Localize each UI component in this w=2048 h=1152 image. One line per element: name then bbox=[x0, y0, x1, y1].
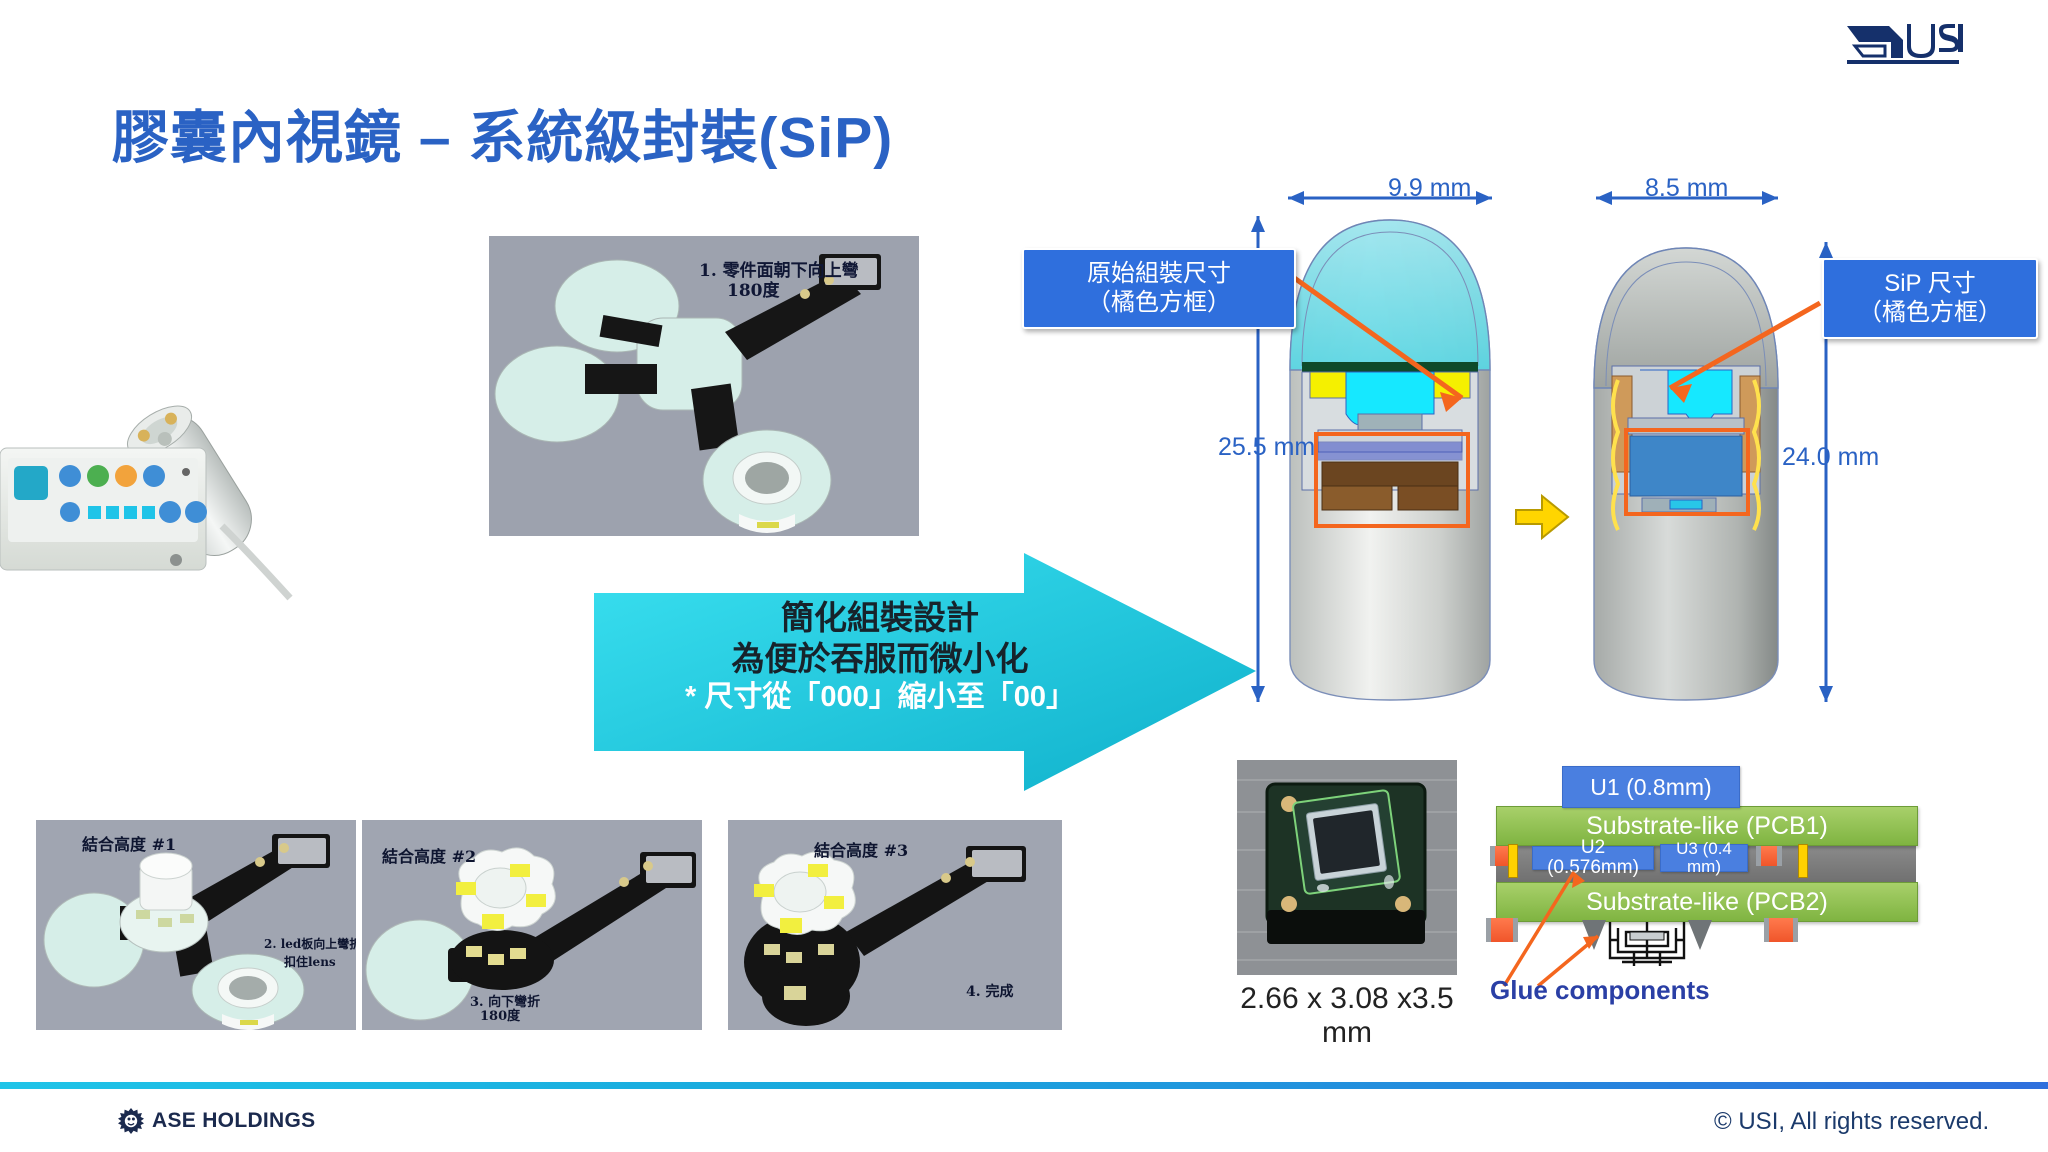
image-sensor-photo bbox=[1237, 760, 1457, 975]
callout-sip-line2: （橘色方框） bbox=[1838, 298, 2022, 327]
sip-pcb1-label: Substrate-like (PCB1) bbox=[1586, 812, 1828, 841]
svg-text:扣住lens: 扣住lens bbox=[284, 954, 336, 969]
callout-original-assembly: 原始組裝尺寸 （橘色方框） bbox=[1022, 248, 1296, 329]
right-capsule-height-label: 24.0 mm bbox=[1782, 443, 1879, 472]
svg-text:4. 完成: 4. 完成 bbox=[966, 983, 1014, 1000]
right-capsule-width-label: 8.5 mm bbox=[1645, 174, 1728, 203]
svg-text:結合高度 #2: 結合高度 #2 bbox=[382, 847, 476, 866]
svg-text:1. 零件面朝下向上彎: 1. 零件面朝下向上彎 bbox=[699, 260, 859, 281]
sip-passive-component bbox=[1756, 846, 1782, 866]
ase-sun-icon bbox=[118, 1108, 144, 1134]
page-title: 膠囊內視鏡 – 系統級封裝(SiP) bbox=[112, 92, 893, 174]
ase-holdings-logo: ASE HOLDINGS bbox=[118, 1108, 315, 1134]
assembly-photo-flex-unfolded: 1. 零件面朝下向上彎 180度 bbox=[489, 236, 919, 536]
callout-original-line2: （橘色方框） bbox=[1038, 288, 1280, 317]
sip-passive-component bbox=[1764, 918, 1798, 942]
footer-divider bbox=[0, 1082, 2048, 1089]
assembly-photo-stack-height-3: 結合高度 #3 4. 完成 bbox=[728, 820, 1062, 1030]
process-arrow-text: 簡化組裝設計 為便於吞服而微小化 * 尺寸從「000」縮小至「00」 bbox=[620, 598, 1140, 716]
assembly-photo-stack-height-2: 結合高度 #2 3. 向下彎折 180度 bbox=[362, 820, 702, 1030]
assembly-photo-stack-height-1: 結合高度 #1 2. led板向上彎折 扣住lens bbox=[36, 820, 356, 1030]
svg-text:結合高度 #3: 結合高度 #3 bbox=[814, 841, 908, 860]
copyright-text: © USI, All rights reserved. bbox=[1714, 1108, 1989, 1136]
usi-logo bbox=[1845, 16, 1963, 68]
callout-original-line1: 原始組裝尺寸 bbox=[1038, 259, 1280, 288]
sip-passive-yellow bbox=[1798, 844, 1808, 878]
left-capsule-height-label: 25.5 mm bbox=[1218, 433, 1315, 462]
capsule-comparison-diagram bbox=[1230, 180, 1870, 710]
svg-text:結合高度 #1: 結合高度 #1 bbox=[82, 835, 176, 854]
process-arrow-line3: * 尺寸從「000」縮小至「00」 bbox=[620, 680, 1140, 716]
ase-holdings-text: ASE HOLDINGS bbox=[152, 1109, 315, 1133]
endoscope-device-photo bbox=[0, 330, 430, 610]
process-arrow-line2: 為便於吞服而微小化 bbox=[620, 639, 1140, 680]
sip-u1-label: U1 (0.8mm) bbox=[1562, 766, 1740, 808]
callout-sip-line1: SiP 尺寸 bbox=[1838, 269, 2022, 298]
sensor-dimension-label: 2.66 x 3.08 x3.5 mm bbox=[1212, 982, 1482, 1050]
process-arrow-line1: 簡化組裝設計 bbox=[620, 598, 1140, 639]
svg-text:180度: 180度 bbox=[727, 280, 780, 301]
glue-leader-arrows bbox=[1476, 862, 1696, 992]
callout-sip-size: SiP 尺寸 （橘色方框） bbox=[1822, 258, 2038, 339]
svg-text:180度: 180度 bbox=[480, 1008, 521, 1024]
glue-components-label: Glue components bbox=[1490, 975, 1710, 1006]
svg-text:2. led板向上彎折: 2. led板向上彎折 bbox=[264, 936, 356, 951]
left-capsule-width-label: 9.9 mm bbox=[1388, 174, 1471, 203]
svg-text:3. 向下彎折: 3. 向下彎折 bbox=[470, 994, 540, 1010]
